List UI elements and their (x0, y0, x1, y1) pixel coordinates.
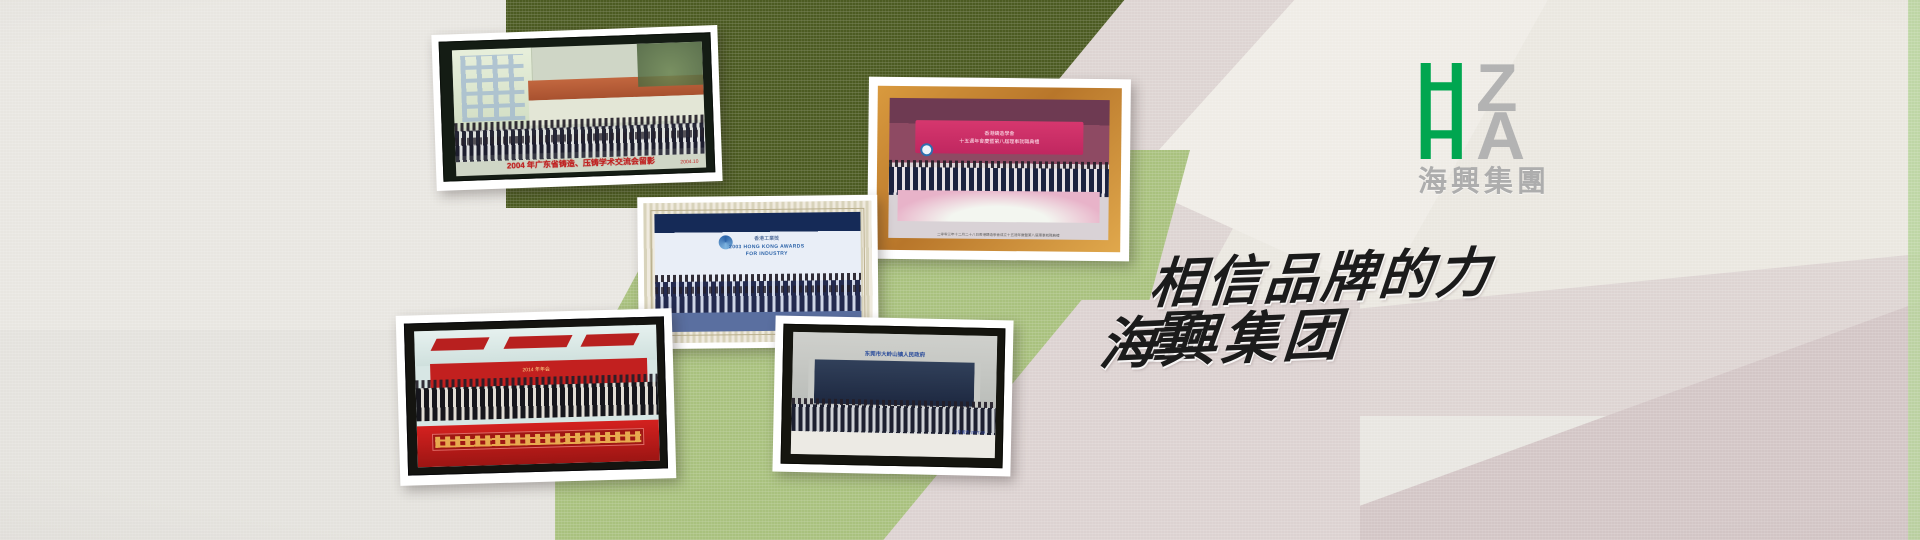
brand-slogan: 相信品牌的力量 海興集团 (1100, 250, 1530, 390)
scene-ceiling-beam-3 (581, 333, 640, 347)
photo-caption-hk-award-banquet: 二零零三年十二月二十八日香港鑄造學會成立十五週年慶暨第八屆理事就職典禮 (888, 231, 1108, 238)
company-logo[interactable]: Z A H H 海興集團 (1416, 52, 1596, 202)
scene-ceiling-beam-2 (503, 335, 572, 349)
photo-image-guangdong-2004: 2004 年广东省铸造、压铸学术交流会留影 2004.10 (452, 42, 706, 177)
scene-emblem-icon (920, 143, 933, 156)
photo-image-hk-awards-industry: 香港工業獎 2003 HONG KONG AWARDS FOR INDUSTRY (654, 212, 861, 332)
photo-caption-date-guangdong-2004: 2004.10 (680, 159, 698, 166)
scene-crowd-bodies (416, 382, 659, 421)
logo-chinese-name: 海興集團 (1418, 158, 1550, 200)
company-banner: 2004 年广东省铸造、压铸学术交流会留影 2004.10 香港鑄造學會 十五週… (0, 0, 1920, 540)
scene-building (452, 48, 535, 129)
photo-image-hk-award-banquet: 香港鑄造學會 十五週年會慶暨第八屆理事就職典禮 二零零三年十二月二十八日香港鑄造… (888, 98, 1109, 240)
scene-photo-stamp: 合影留念 2007.05 (953, 429, 985, 436)
scene-ceiling-beam-1 (431, 337, 490, 351)
photo-frame-hk-award-banquet[interactable]: 香港鑄造學會 十五週年會慶暨第八屆理事就職典禮 二零零三年十二月二十八日香港鑄造… (867, 77, 1131, 262)
photo-image-annual-meeting-2014: 2014 年年会 (414, 325, 660, 468)
photo-image-building-entrance: 东莞市大岭山镇人民政府 合影留念 2007.05 (791, 332, 998, 458)
photo-frame-guangdong-2004[interactable]: 2004 年广东省铸造、压铸学术交流会留影 2004.10 (431, 25, 722, 191)
photo-frame-building-entrance[interactable]: 东莞市大岭山镇人民政府 合影留念 2007.05 (772, 316, 1013, 477)
scene-trees (637, 42, 703, 87)
photo-frame-annual-meeting-2014[interactable]: 2014 年年会 (396, 308, 677, 486)
slogan-line-2: 海興集团 (1097, 307, 1347, 374)
scene-flower-table (897, 190, 1100, 223)
hk-awards-title-en-line2: FOR INDUSTRY (655, 250, 861, 258)
logo-mark: Z A H H (1416, 52, 1596, 160)
frame-wood-border: 香港鑄造學會 十五週年會慶暨第八屆理事就職典禮 二零零三年十二月二十八日香港鑄造… (876, 86, 1122, 253)
